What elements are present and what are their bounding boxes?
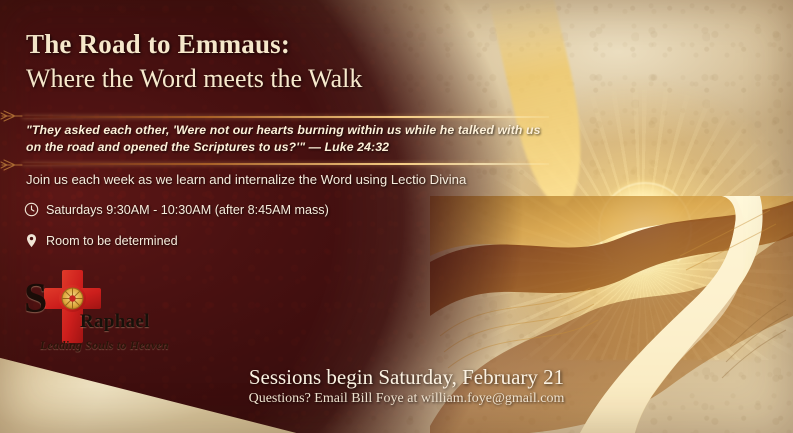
clock-icon [24, 202, 39, 217]
footer-sessions-line: Sessions begin Saturday, February 21 [0, 366, 793, 390]
flourish-ornament-icon [0, 157, 26, 173]
scripture-quote: "They asked each other, 'Were not our he… [26, 122, 546, 157]
logo-letter-s: S [24, 278, 47, 320]
logo-tagline: Leading Souls to Heaven [40, 338, 169, 353]
detail-time: Saturdays 9:30AM - 10:30AM (after 8:45AM… [24, 202, 329, 217]
detail-location: Room to be determined [24, 233, 178, 248]
lead-text: Join us each week as we learn and intern… [26, 172, 546, 187]
title-line-2: Where the Word meets the Walk [26, 62, 546, 95]
divider-top [22, 116, 549, 118]
footer-contact-line: Questions? Email Bill Foye at william.fo… [0, 391, 793, 407]
parish-logo: S Raphael Leading Souls to Heaven [22, 268, 172, 360]
event-poster: The Road to Emmaus: Where the Word meets… [0, 0, 793, 433]
flourish-ornament-icon [0, 108, 26, 124]
detail-location-label: Room to be determined [46, 234, 178, 248]
footer: Sessions begin Saturday, February 21 Que… [0, 366, 793, 407]
divider-bottom [22, 163, 549, 165]
page-title: The Road to Emmaus: Where the Word meets… [26, 29, 546, 95]
poster-content: The Road to Emmaus: Where the Word meets… [0, 0, 793, 433]
logo-name: Raphael [80, 312, 150, 331]
location-pin-icon [24, 233, 39, 248]
title-line-1: The Road to Emmaus: [26, 29, 546, 61]
detail-time-label: Saturdays 9:30AM - 10:30AM (after 8:45AM… [46, 203, 329, 217]
